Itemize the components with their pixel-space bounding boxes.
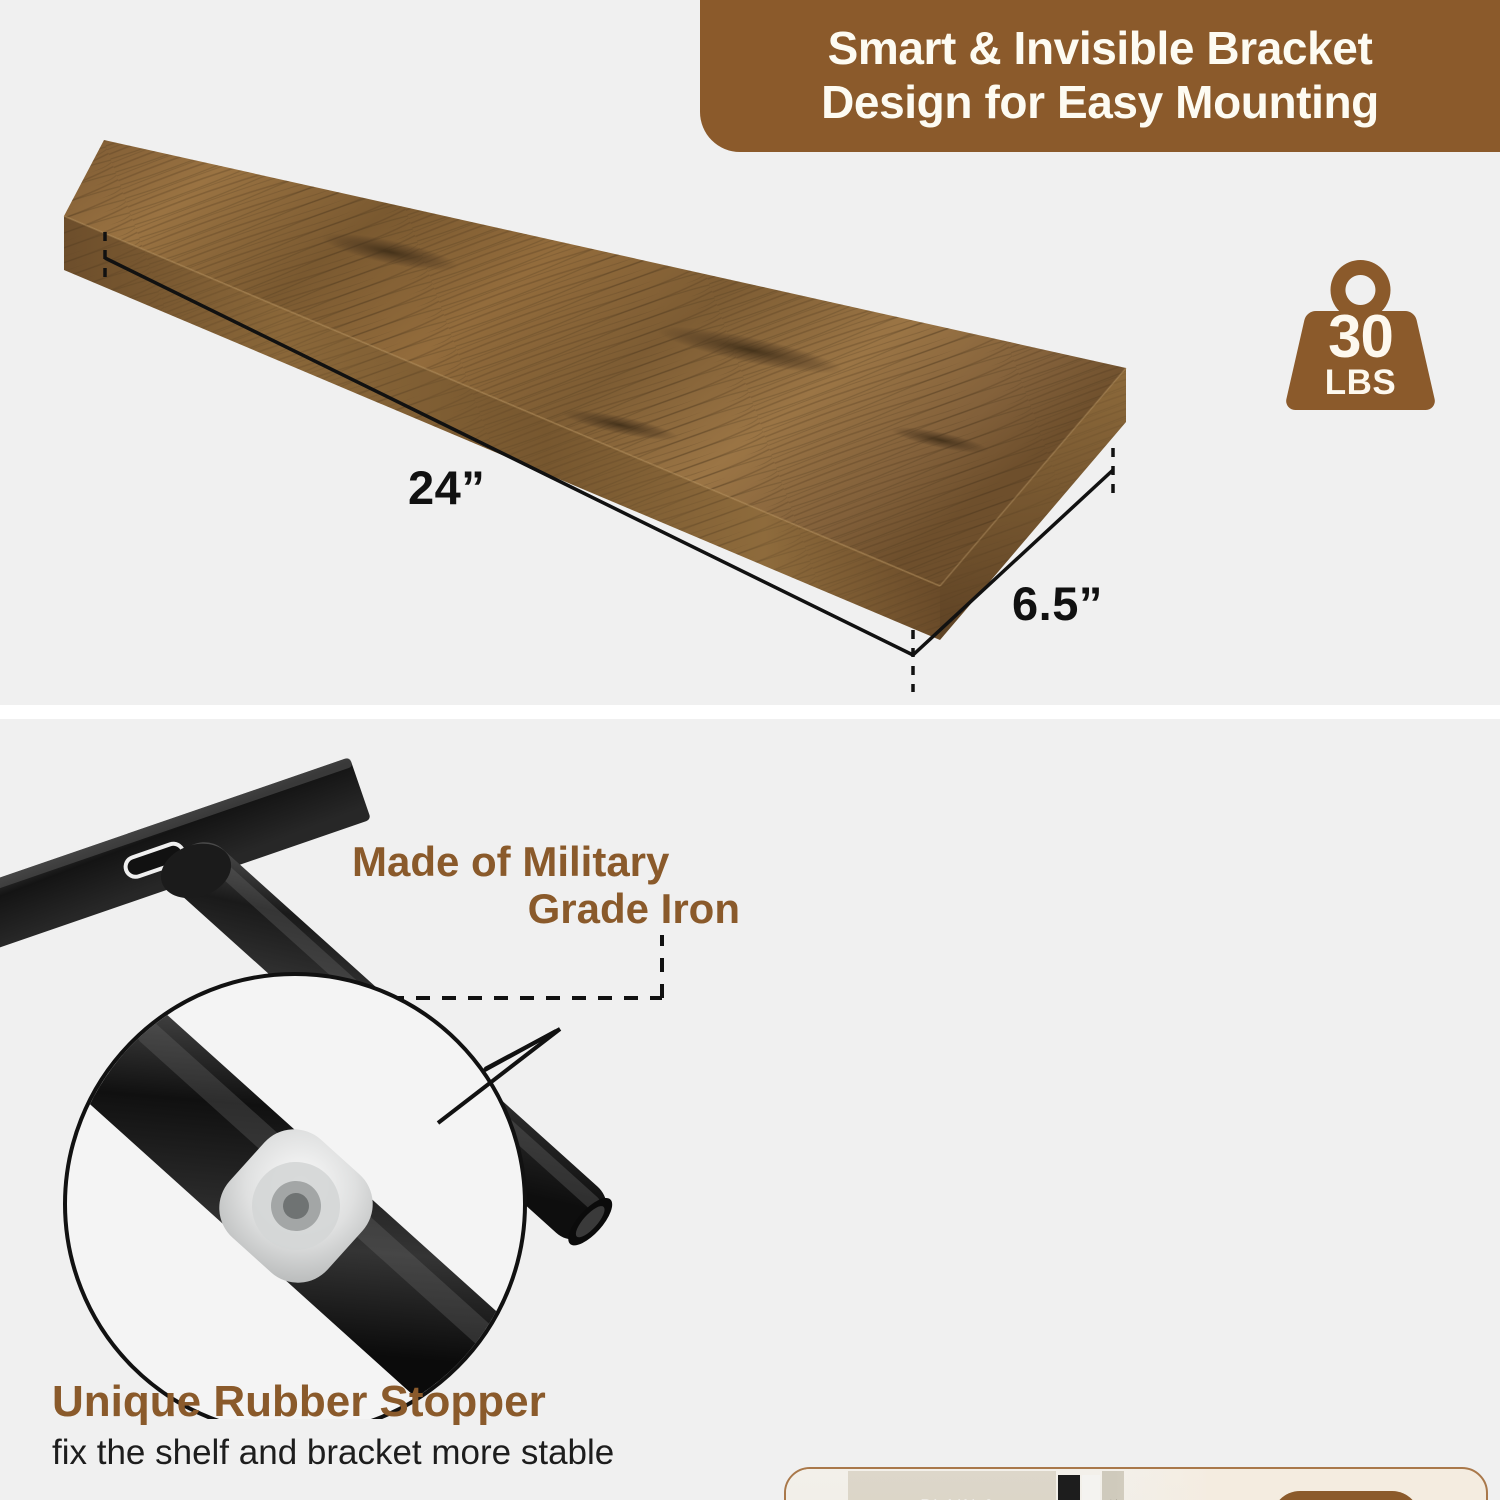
svg-text:PLAIN &: PLAIN & [920,1496,996,1500]
header-banner: Smart & Invisible Bracket Design for Eas… [700,0,1500,152]
dimension-label-depth: 6.5” [1012,576,1103,631]
military-title-line2: Grade Iron [300,885,740,932]
weight-value: 30 [1283,308,1438,365]
product-infographic: 24” 6.5” 30 LBS Smart & Invisible Bracke… [0,0,1500,1500]
banner-line-1: Smart & Invisible Bracket [828,22,1373,76]
comparison-card-ours: PLAIN & SIMPLE KIM BRENNEMAN [784,1467,1488,1500]
rubber-stopper-subtitle: fix the shelf and bracket more stable [52,1434,752,1473]
ours-photo-fade [1116,1469,1206,1500]
weight-unit: LBS [1283,365,1438,402]
weight-badge-text: 30 LBS [1283,308,1438,402]
panel-divider [0,705,1500,719]
rubber-stopper-block: Unique Rubber Stopper fix the shelf and … [52,1378,752,1473]
ours-photo: PLAIN & SIMPLE KIM BRENNEMAN [786,1469,1206,1500]
ours-pill: Ours [1272,1491,1421,1500]
top-panel: 24” 6.5” 30 LBS Smart & Invisible Bracke… [0,0,1500,705]
banner-line-2: Design for Easy Mounting [821,76,1379,130]
military-title-line1: Made of Military [300,838,740,885]
bracket-illustration [0,719,760,1419]
ours-text-block: Ours DEEPER & THICKER Create more storag… [1206,1469,1486,1500]
military-grade-title: Made of Military Grade Iron [300,838,740,933]
rubber-stopper-title: Unique Rubber Stopper [52,1378,752,1426]
dimension-label-length: 24” [408,460,485,515]
weight-capacity-badge: 30 LBS [1283,256,1438,416]
